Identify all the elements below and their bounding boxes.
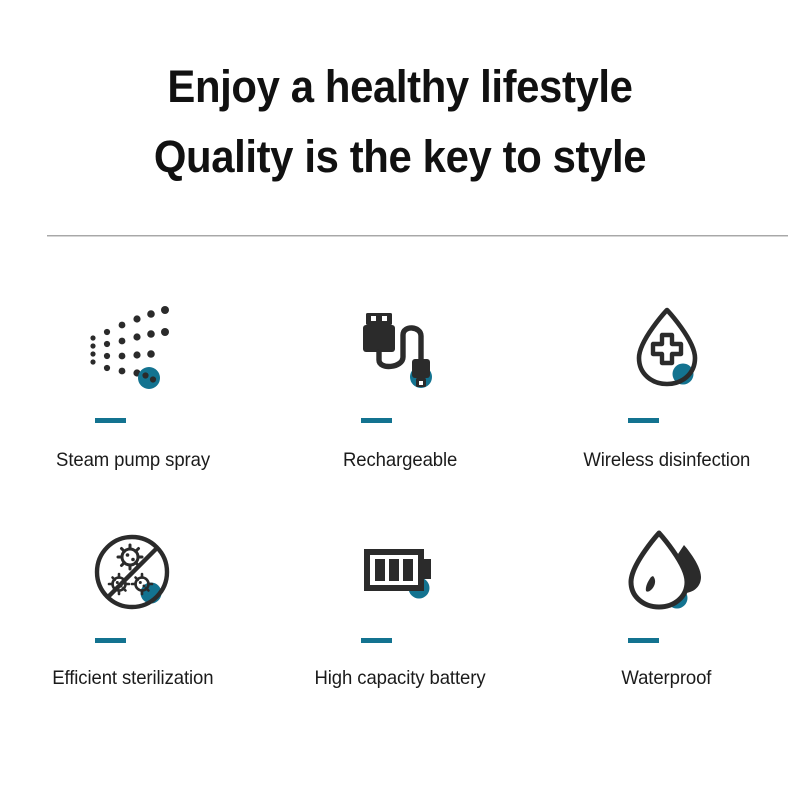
spray-nozzle-icon (78, 296, 188, 404)
feature-item-steam-pump-spray: Steam pump spray (0, 296, 267, 524)
feature-label: Waterproof (622, 667, 712, 690)
accent-dash (628, 638, 659, 643)
feature-highlights-page: Enjoy a healthy lifestyle Quality is the… (0, 0, 800, 800)
accent-dash (361, 638, 392, 643)
accent-dash (361, 418, 392, 423)
accent-dash (95, 418, 126, 423)
feature-label: Rechargeable (343, 449, 457, 472)
feature-item-high-capacity-battery: High capacity battery (267, 524, 534, 704)
feature-item-efficient-sterilization: Efficient sterilization (0, 524, 267, 704)
no-germs-icon (78, 524, 188, 622)
page-heading: Enjoy a healthy lifestyle Quality is the… (0, 52, 800, 192)
feature-label: Wireless disinfection (583, 449, 750, 472)
feature-label: Steam pump spray (56, 449, 210, 472)
feature-item-waterproof: Waterproof (533, 524, 800, 704)
feature-label: Efficient sterilization (53, 667, 214, 690)
feature-item-rechargeable: Rechargeable (267, 296, 534, 524)
battery-full-icon (345, 524, 455, 622)
heading-line-1: Enjoy a healthy lifestyle (28, 52, 772, 122)
accent-dash (628, 418, 659, 423)
horizontal-divider (47, 235, 788, 237)
feature-label: High capacity battery (314, 667, 485, 690)
usb-cable-icon (345, 296, 455, 404)
accent-dash (95, 638, 126, 643)
feature-grid: Steam pump spray (0, 296, 800, 704)
water-droplets-icon (612, 524, 722, 622)
feature-item-wireless-disinfection: Wireless disinfection (533, 296, 800, 524)
droplet-plus-icon (612, 296, 722, 404)
heading-line-2: Quality is the key to style (28, 122, 772, 192)
